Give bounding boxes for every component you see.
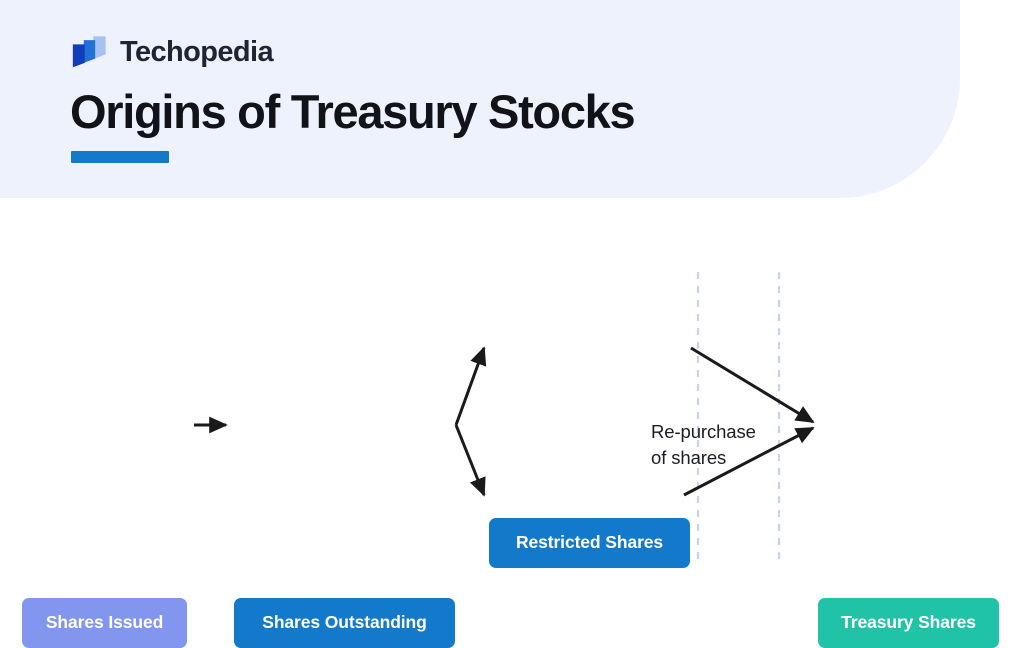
node-shares-outstanding-label: Shares Outstanding bbox=[262, 611, 426, 634]
brand-name: Techopedia bbox=[120, 38, 273, 67]
node-shares-issued-label: Shares Issued bbox=[46, 611, 163, 634]
node-treasury-shares: Treasury Shares bbox=[818, 598, 999, 648]
flowchart-connectors bbox=[0, 198, 1024, 648]
header-band: Techopedia Origins of Treasury Stocks bbox=[0, 0, 960, 198]
node-shares-issued: Shares Issued bbox=[22, 598, 187, 648]
node-shares-outstanding: Shares Outstanding bbox=[234, 598, 455, 648]
page-title: Origins of Treasury Stocks bbox=[70, 86, 634, 139]
infographic-page: Techopedia Origins of Treasury Stocks bbox=[0, 0, 1024, 648]
repurchase-annotation: Re-purchase of shares bbox=[651, 419, 756, 472]
edge-restricted-to-treasury bbox=[691, 348, 813, 422]
node-restricted-shares: Restricted Shares bbox=[489, 518, 690, 568]
techopedia-layers-logo-icon bbox=[70, 33, 108, 71]
brand: Techopedia bbox=[70, 33, 273, 71]
repurchase-annotation-line2: of shares bbox=[651, 445, 756, 471]
title-underline-rule bbox=[71, 151, 169, 163]
node-treasury-shares-label: Treasury Shares bbox=[841, 611, 976, 634]
repurchase-annotation-line1: Re-purchase bbox=[651, 419, 756, 445]
flowchart-diagram: Re-purchase of shares Shares Issued Shar… bbox=[0, 198, 1024, 648]
edge-outstanding-to-restricted bbox=[456, 348, 484, 425]
node-restricted-shares-label: Restricted Shares bbox=[516, 531, 663, 554]
edge-outstanding-to-float bbox=[456, 425, 484, 495]
